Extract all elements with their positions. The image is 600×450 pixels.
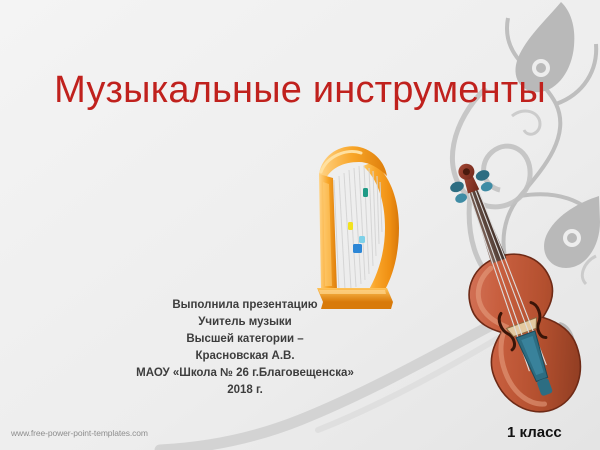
author-line-4: Красновская А.В.	[20, 348, 470, 365]
harp-soundboard	[363, 162, 399, 296]
author-text-block: Выполнила презентацию Учитель музыки Выс…	[20, 297, 470, 399]
harp-strings	[329, 166, 382, 290]
grade-badge: 1 класс	[507, 424, 562, 441]
author-line-6: 2018 г.	[20, 382, 470, 399]
harp-accent-blue	[353, 244, 362, 253]
author-line-3: Высшей категории –	[20, 331, 470, 348]
author-line-5: МАОУ «Школа № 26 г.Благовещенска»	[20, 365, 470, 382]
template-watermark: www.free-power-point-templates.com	[11, 428, 148, 438]
author-line-2: Учитель музыки	[20, 314, 470, 331]
presentation-slide: Музыкальные инструменты	[0, 0, 600, 450]
author-line-1: Выполнила презентацию	[20, 297, 470, 314]
cello-fingerboard	[465, 185, 507, 264]
harp-illustration	[303, 132, 407, 310]
harp-base-highlight	[319, 290, 386, 294]
harp-accent-cyan	[359, 236, 365, 243]
slide-title: Музыкальные инструменты	[0, 68, 600, 112]
harp-accent-green	[363, 188, 368, 197]
harp-accent-yellow	[348, 222, 353, 230]
